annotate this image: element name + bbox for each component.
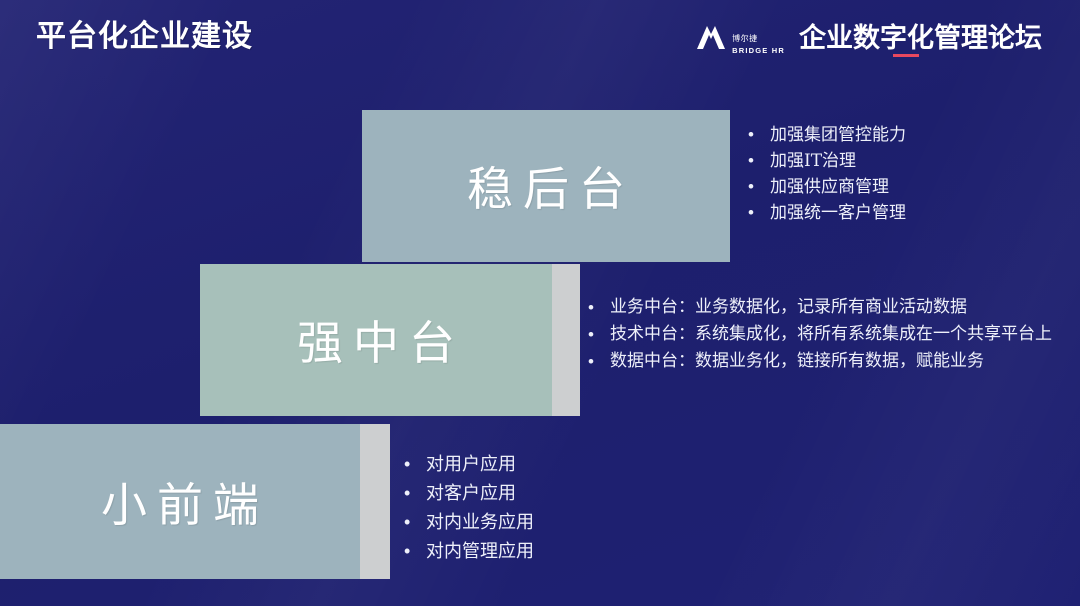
list-item: • 技术中台：系统集成化，将所有系统集成在一个共享平台上 xyxy=(588,321,1072,348)
company-logo-wordmark: 博尔捷 BRIDGE HR xyxy=(732,35,785,55)
list-item-label: 对内管理应用 xyxy=(426,537,704,566)
brand-area: 博尔捷 BRIDGE HR 企业数字化管理论坛 xyxy=(694,16,1042,60)
step-block-bottom: 小前端 xyxy=(0,424,390,579)
bullet-list-middle: • 业务中台：业务数据化，记录所有商业活动数据 • 技术中台：系统集成化，将所有… xyxy=(588,294,1072,375)
step-block-bottom-side xyxy=(360,424,390,579)
company-name-en: BRIDGE HR xyxy=(732,47,785,55)
list-item: • 加强集团管控能力 xyxy=(748,122,1068,148)
list-item: • 对内业务应用 xyxy=(404,508,704,537)
list-item: • 加强IT治理 xyxy=(748,148,1068,174)
list-item-label: 加强IT治理 xyxy=(770,148,1068,174)
forum-logo-underline xyxy=(893,54,919,57)
list-item-label: 数据中台：数据业务化，链接所有数据，赋能业务 xyxy=(610,348,1072,375)
forum-logo: 企业数字化管理论坛 xyxy=(797,21,1042,56)
step-block-middle-side xyxy=(552,264,580,416)
slide-canvas: 平台化企业建设 博尔捷 BRIDGE HR 企业数字化管理论坛 稳后台 xyxy=(0,0,1080,606)
step-block-middle: 强中台 xyxy=(200,264,580,416)
list-item-label: 技术中台：系统集成化，将所有系统集成在一个共享平台上 xyxy=(610,321,1072,348)
list-item-label: 加强集团管控能力 xyxy=(770,122,1068,148)
bullet-dot-icon: • xyxy=(748,122,770,148)
forum-logo-text: 企业数字化管理论坛 xyxy=(799,25,1042,52)
list-item-label: 加强供应商管理 xyxy=(770,174,1068,200)
bullet-dot-icon: • xyxy=(404,450,426,479)
bullet-dot-icon: • xyxy=(748,148,770,174)
list-item: • 对客户应用 xyxy=(404,479,704,508)
bullet-list-bottom: • 对用户应用 • 对客户应用 • 对内业务应用 • 对内管理应用 xyxy=(404,450,704,566)
step-block-middle-label: 强中台 xyxy=(287,307,465,373)
bullet-dot-icon: • xyxy=(748,174,770,200)
page-title: 平台化企业建设 xyxy=(36,17,253,56)
list-item-label: 对用户应用 xyxy=(426,450,704,479)
list-item: • 对用户应用 xyxy=(404,450,704,479)
list-item-label: 业务中台：业务数据化，记录所有商业活动数据 xyxy=(610,294,1072,321)
list-item: • 业务中台：业务数据化，记录所有商业活动数据 xyxy=(588,294,1072,321)
bullet-dot-icon: • xyxy=(404,537,426,566)
bullet-dot-icon: • xyxy=(404,508,426,537)
list-item-label: 加强统一客户管理 xyxy=(770,200,1068,226)
list-item: • 加强统一客户管理 xyxy=(748,200,1068,226)
list-item: • 对内管理应用 xyxy=(404,537,704,566)
list-item-label: 对客户应用 xyxy=(426,479,704,508)
bullet-dot-icon: • xyxy=(748,200,770,226)
step-block-bottom-face: 小前端 xyxy=(0,424,360,579)
list-item: • 数据中台：数据业务化，链接所有数据，赋能业务 xyxy=(588,348,1072,375)
step-block-top: 稳后台 xyxy=(362,110,730,262)
company-name-cn: 博尔捷 xyxy=(732,35,785,43)
list-item-label: 对内业务应用 xyxy=(426,508,704,537)
step-block-middle-face: 强中台 xyxy=(200,264,552,416)
step-block-top-face: 稳后台 xyxy=(362,110,730,262)
step-block-bottom-label: 小前端 xyxy=(91,469,269,535)
bullet-dot-icon: • xyxy=(588,294,610,321)
bullet-dot-icon: • xyxy=(588,348,610,375)
bullet-dot-icon: • xyxy=(588,321,610,348)
list-item: • 加强供应商管理 xyxy=(748,174,1068,200)
bullet-dot-icon: • xyxy=(404,479,426,508)
step-block-top-label: 稳后台 xyxy=(457,153,635,219)
bullet-list-top: • 加强集团管控能力 • 加强IT治理 • 加强供应商管理 • 加强统一客户管理 xyxy=(748,122,1068,226)
mountain-m-icon xyxy=(694,22,728,55)
company-logo: 博尔捷 BRIDGE HR xyxy=(694,22,785,55)
